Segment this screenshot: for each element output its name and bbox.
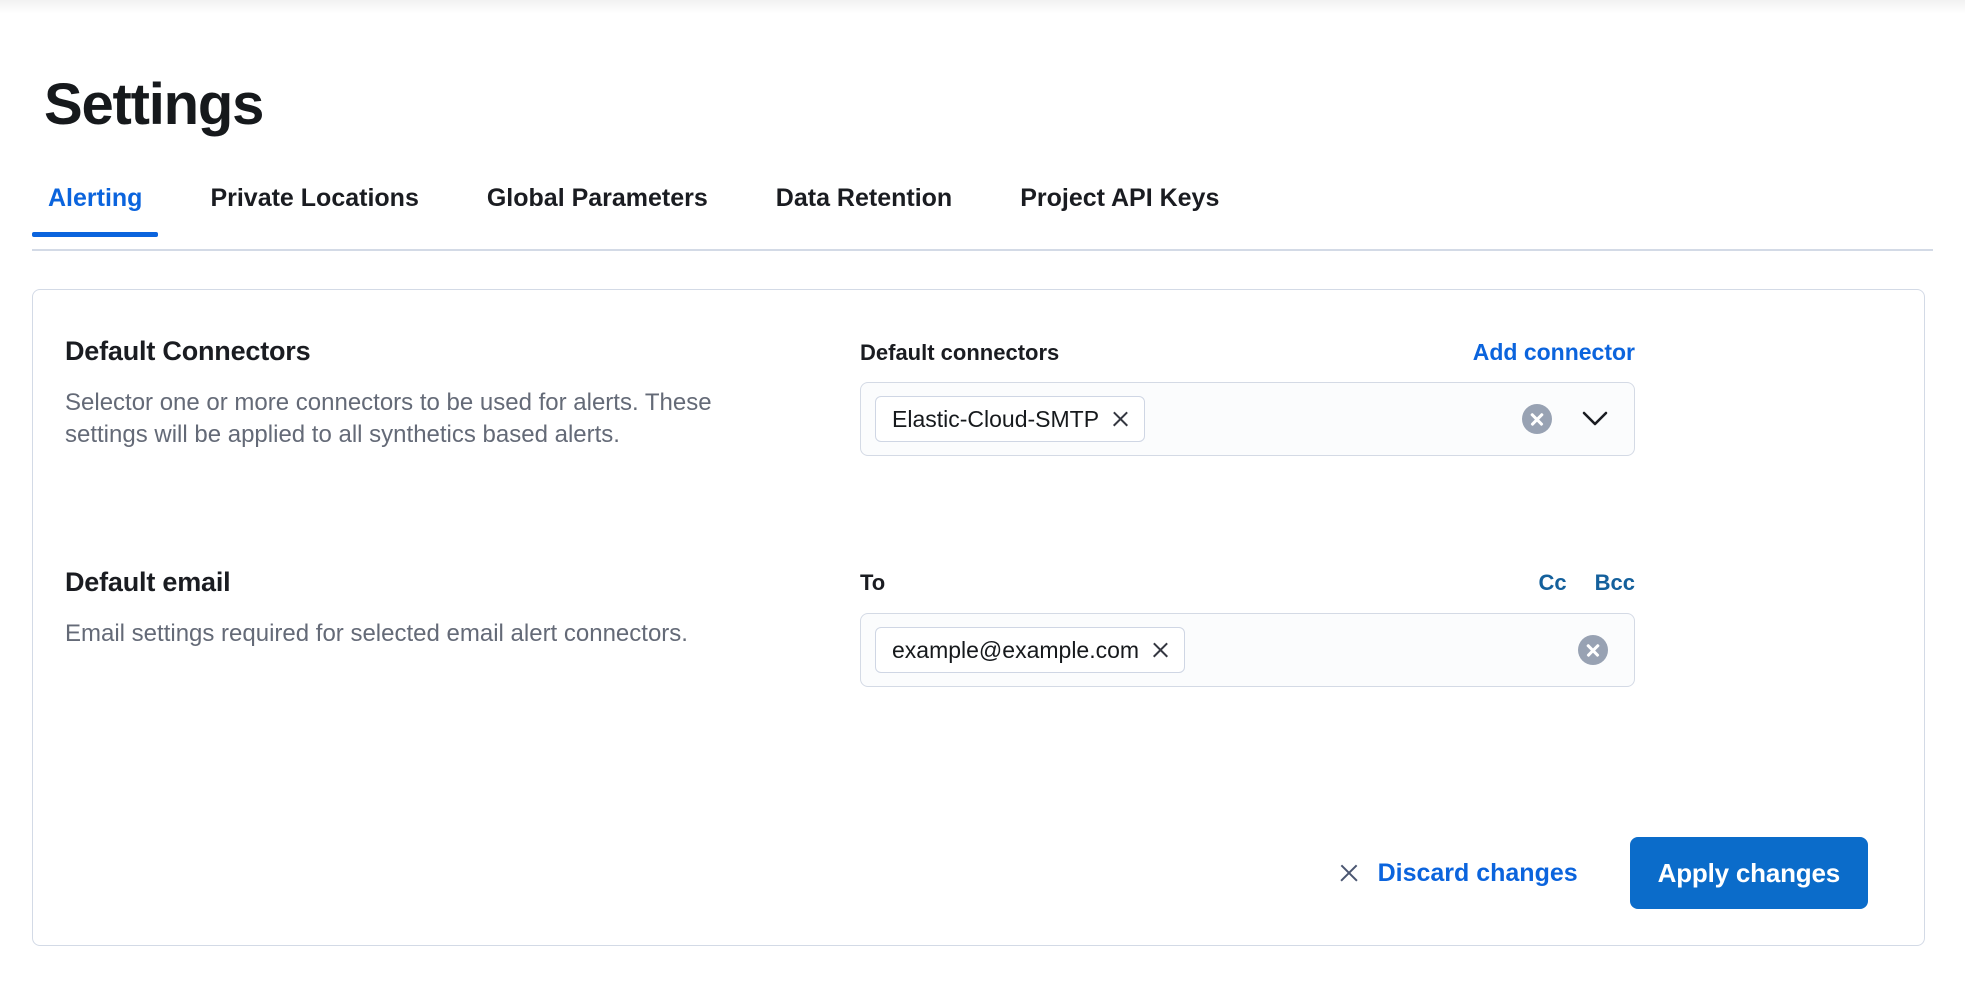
default-connectors-description: Selector one or more connectors to be us… [65, 387, 795, 451]
default-email-description-column: Default email Email settings required fo… [65, 567, 860, 687]
default-email-title: Default email [65, 567, 860, 598]
top-edge-shadow [0, 0, 1965, 14]
close-icon [1338, 862, 1360, 884]
email-recipient-pill[interactable]: example@example.com [875, 627, 1185, 673]
tab-alerting[interactable]: Alerting [32, 185, 158, 235]
to-field-label: To [860, 570, 885, 596]
clear-recipients-icon[interactable] [1578, 635, 1608, 665]
clear-connectors-icon[interactable] [1522, 404, 1552, 434]
remove-connector-icon[interactable] [1111, 410, 1130, 429]
apply-changes-button[interactable]: Apply changes [1630, 837, 1868, 909]
cc-bcc-links: Cc Bcc [1539, 570, 1635, 596]
default-connectors-title: Default Connectors [65, 336, 860, 367]
default-connectors-control-column: Default connectors Add connector Elastic… [860, 336, 1635, 456]
default-connectors-section: Default Connectors Selector one or more … [65, 336, 1855, 456]
discard-changes-button[interactable]: Discard changes [1322, 847, 1594, 900]
default-email-control-column: To Cc Bcc example@example.com [860, 567, 1635, 687]
panel-footer-actions: Discard changes Apply changes [1322, 837, 1868, 909]
chevron-down-icon[interactable] [1582, 411, 1608, 427]
discard-changes-label: Discard changes [1378, 859, 1578, 888]
default-connectors-description-column: Default Connectors Selector one or more … [65, 336, 860, 456]
default-connectors-combobox[interactable]: Elastic-Cloud-SMTP [860, 382, 1635, 456]
tab-global-parameters[interactable]: Global Parameters [471, 185, 724, 235]
cc-link[interactable]: Cc [1539, 570, 1567, 596]
alerting-settings-panel: Default Connectors Selector one or more … [32, 289, 1925, 946]
settings-page: Settings Alerting Private Locations Glob… [0, 0, 1965, 989]
default-connectors-label: Default connectors [860, 340, 1059, 366]
default-connectors-field-header: Default connectors Add connector [860, 339, 1635, 369]
settings-tabs: Alerting Private Locations Global Parame… [32, 185, 1933, 251]
bcc-link[interactable]: Bcc [1595, 570, 1635, 596]
connector-pill[interactable]: Elastic-Cloud-SMTP [875, 396, 1145, 442]
tab-project-api-keys[interactable]: Project API Keys [1004, 185, 1235, 235]
default-email-section: Default email Email settings required fo… [65, 567, 1855, 687]
add-connector-link[interactable]: Add connector [1473, 339, 1635, 366]
default-email-field-header: To Cc Bcc [860, 570, 1635, 600]
to-recipients-combobox[interactable]: example@example.com [860, 613, 1635, 687]
default-email-description: Email settings required for selected ema… [65, 618, 795, 650]
connector-pill-label: Elastic-Cloud-SMTP [892, 406, 1099, 432]
page-title: Settings [44, 73, 263, 137]
email-recipient-label: example@example.com [892, 637, 1139, 663]
tab-data-retention[interactable]: Data Retention [760, 185, 968, 235]
tab-private-locations[interactable]: Private Locations [194, 185, 434, 235]
remove-recipient-icon[interactable] [1151, 641, 1170, 660]
